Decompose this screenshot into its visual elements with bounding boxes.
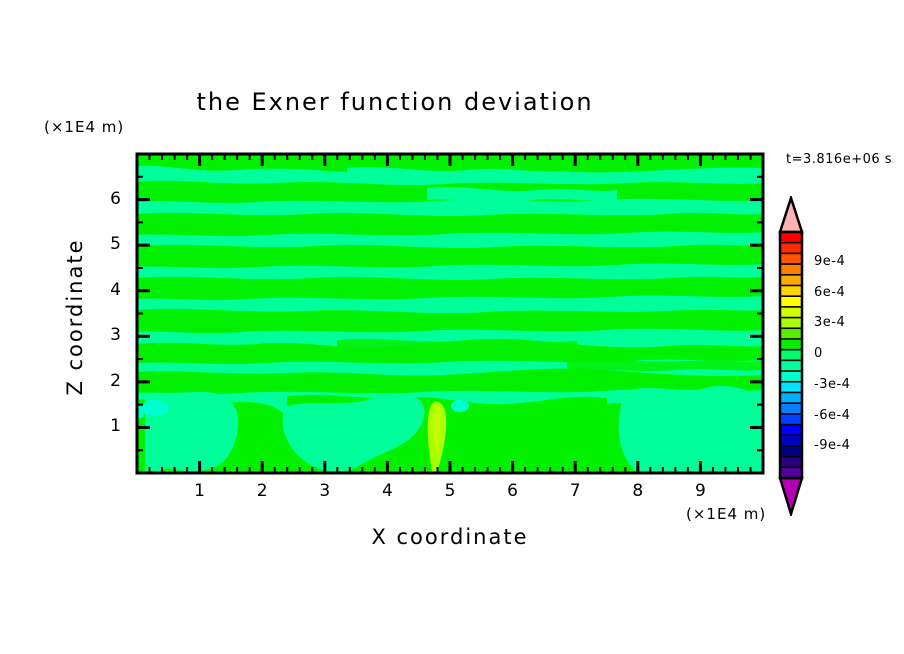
y-tick-label: 5 — [91, 234, 121, 254]
colorbar-tick-label: -9e-4 — [814, 438, 850, 453]
x-tick-label: 7 — [560, 481, 590, 501]
x-tick-label: 5 — [435, 481, 465, 501]
x-axis-unit-label: (×1E4 m) — [686, 505, 766, 523]
figure-canvas: the Exner function deviation (×1E4 m) (×… — [0, 0, 904, 654]
colorbar-tick-label: 0 — [814, 346, 823, 361]
y-tick-label: 4 — [91, 280, 121, 300]
colorbar-tick-label: 9e-4 — [814, 254, 845, 269]
y-tick-label: 3 — [91, 325, 121, 345]
x-tick-label: 2 — [247, 481, 277, 501]
x-tick-label: 3 — [310, 481, 340, 501]
x-axis-title: X coordinate — [137, 525, 763, 549]
x-tick-label: 1 — [185, 481, 215, 501]
y-tick-label: 2 — [91, 371, 121, 391]
axis-frame — [130, 147, 780, 487]
colorbar-tick-label: 6e-4 — [814, 285, 845, 300]
y-tick-label: 1 — [91, 416, 121, 436]
y-axis-unit-label: (×1E4 m) — [44, 118, 124, 136]
x-tick-label: 9 — [685, 481, 715, 501]
colorbar-tick-label: -6e-4 — [814, 408, 850, 423]
x-tick-label: 6 — [498, 481, 528, 501]
y-axis-title: Z coordinate — [63, 217, 87, 417]
colorbar-tick-label: 3e-4 — [814, 315, 845, 330]
x-tick-label: 4 — [372, 481, 402, 501]
x-tick-label: 8 — [623, 481, 653, 501]
colorbar — [776, 196, 816, 516]
time-stamp-label: t=3.816e+06 s — [786, 152, 892, 167]
y-tick-label: 6 — [91, 189, 121, 209]
page-title: the Exner function deviation — [0, 88, 790, 116]
colorbar-tick-label: -3e-4 — [814, 377, 850, 392]
